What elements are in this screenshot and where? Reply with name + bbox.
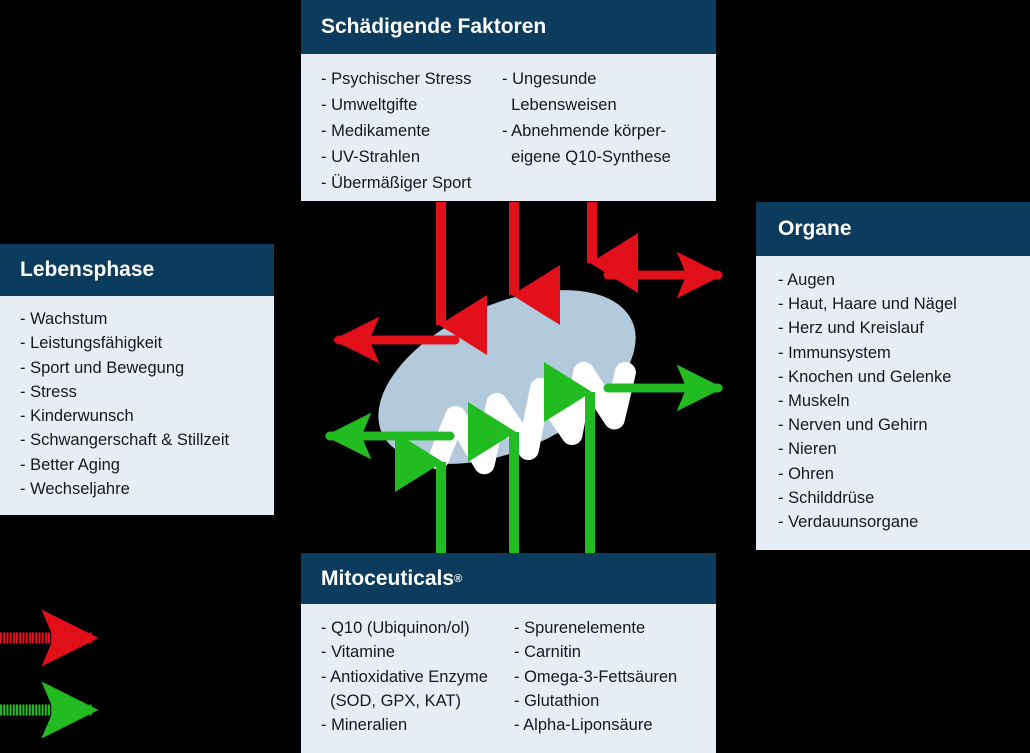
list-item: - Ohren [778, 462, 1030, 486]
list-item: - Better Aging [20, 453, 274, 477]
list-item: - Muskeln [778, 389, 1030, 413]
list-item: - Wachstum [20, 307, 274, 331]
list-item: - Haut, Haare und Nägel [778, 292, 1030, 316]
legend [0, 638, 92, 710]
list-item: - Leistungsfähigkeit [20, 331, 274, 355]
panel-life-phase-body: - Wachstum - Leistungsfähigkeit - Sport … [0, 296, 274, 501]
panel-organs-body: - Augen - Haut, Haare und Nägel - Herz u… [756, 256, 1030, 534]
damaging-inflow-arrows [441, 202, 592, 325]
list-item: - Antioxidative Enzyme [321, 665, 514, 689]
mitoceuticals-list-left: - Q10 (Ubiquinon/ol) - Vitamine - Antiox… [321, 616, 514, 737]
damaging-factors-list-left: - Psychischer Stress - Umweltgifte - Med… [321, 66, 502, 196]
organs-list: - Augen - Haut, Haare und Nägel - Herz u… [778, 268, 1030, 534]
list-item: - Herz und Kreislauf [778, 316, 1030, 340]
list-item: - Psychischer Stress [321, 66, 502, 92]
list-item: - Vitamine [321, 640, 514, 664]
list-item: - Knochen und Gelenke [778, 365, 1030, 389]
list-item: - Augen [778, 268, 1030, 292]
panel-life-phase: Lebensphase - Wachstum - Leistungsfähigk… [0, 244, 274, 515]
list-item: - Nerven und Gehirn [778, 413, 1030, 437]
panel-organs: Organe - Augen - Haut, Haare und Nägel -… [756, 202, 1030, 550]
list-item: - Verdauunsorgane [778, 510, 1030, 534]
panel-damaging-factors: Schädigende Faktoren - Psychischer Stres… [301, 0, 716, 201]
list-item: - Abnehmende körper- [502, 118, 702, 144]
list-item: - Kinderwunsch [20, 404, 274, 428]
list-item: - Schilddrüse [778, 486, 1030, 510]
panel-mitoceuticals-title: Mitoceuticals [321, 567, 454, 591]
panel-mitoceuticals: Mitoceuticals® - Q10 (Ubiquinon/ol) - Vi… [301, 553, 716, 753]
list-item: - Sport und Bewegung [20, 356, 274, 380]
list-item: - Medikamente [321, 118, 502, 144]
mitochondrion-icon [352, 255, 662, 500]
list-item: - Immunsystem [778, 341, 1030, 365]
list-item: - Stress [20, 380, 274, 404]
supporting-inflow-arrows [441, 392, 590, 553]
list-item: (SOD, GPX, KAT) [321, 689, 514, 713]
list-item: - Omega-3-Fettsäuren [514, 665, 714, 689]
panel-damaging-factors-title: Schädigende Faktoren [321, 15, 546, 39]
panel-life-phase-title: Lebensphase [20, 258, 154, 282]
mitoceuticals-list-right: - Spurenelemente - Carnitin - Omega-3-Fe… [514, 616, 714, 737]
list-item: eigene Q10-Synthese [502, 144, 702, 170]
list-item: - Alpha-Liponsäure [514, 713, 714, 737]
list-item: - Carnitin [514, 640, 714, 664]
damaging-factors-list-right: - Ungesunde Lebensweisen - Abnehmende kö… [502, 66, 702, 196]
life-phase-list: - Wachstum - Leistungsfähigkeit - Sport … [20, 307, 274, 501]
list-item: - Ungesunde [502, 66, 702, 92]
panel-damaging-factors-header: Schädigende Faktoren [301, 0, 716, 54]
list-item: - Glutathion [514, 689, 714, 713]
list-item: - Übermäßiger Sport [321, 170, 502, 196]
list-item: - Umweltgifte [321, 92, 502, 118]
list-item: - Wechseljahre [20, 477, 274, 501]
panel-mitoceuticals-header: Mitoceuticals® [301, 553, 716, 604]
panel-damaging-factors-body: - Psychischer Stress - Umweltgifte - Med… [301, 54, 716, 196]
panel-mitoceuticals-body: - Q10 (Ubiquinon/ol) - Vitamine - Antiox… [301, 604, 716, 737]
list-item: - UV-Strahlen [321, 144, 502, 170]
registered-trademark-icon: ® [454, 573, 462, 585]
diagram-canvas: Schädigende Faktoren - Psychischer Stres… [0, 0, 1030, 753]
list-item: - Mineralien [321, 713, 514, 737]
list-item: - Schwangerschaft & Stillzeit [20, 428, 274, 452]
list-item: - Spurenelemente [514, 616, 714, 640]
panel-organs-title: Organe [778, 217, 852, 241]
panel-life-phase-header: Lebensphase [0, 244, 274, 296]
list-item: Lebensweisen [502, 92, 702, 118]
list-item: - Q10 (Ubiquinon/ol) [321, 616, 514, 640]
list-item: - Nieren [778, 437, 1030, 461]
panel-organs-header: Organe [756, 202, 1030, 256]
